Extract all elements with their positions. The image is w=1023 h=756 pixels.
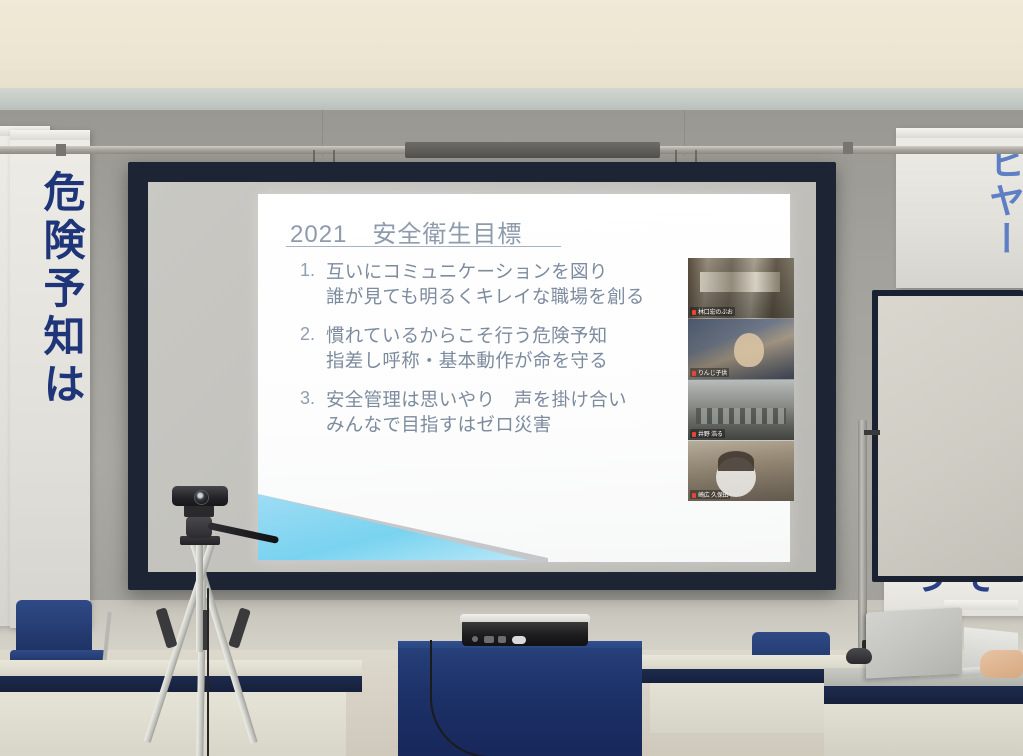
mic-muted-icon [692,310,696,315]
desk-edge [824,686,1023,704]
rail-end-cap [56,144,66,156]
whiteboard-surface [878,296,1023,576]
slide-list-item: 3. 安全管理は思いやり 声を掛け合い みんなで目指すはゼロ災害 [300,388,730,438]
video-tile[interactable]: 井野 浩る [688,380,794,441]
camera-tripod [130,478,270,756]
slide-item-line2: みんなで目指すはゼロ災害 [326,413,627,438]
chair-backrest [16,600,92,656]
banner-left-front: 危険予知は [10,130,90,628]
video-tile[interactable]: 崎広 久保田 [688,441,794,501]
mic-muted-icon [692,432,696,437]
ceiling [0,0,1023,88]
whiteboard-bracket [864,430,880,435]
video-tile[interactable]: りんじ子供 [688,319,794,380]
participant-name: 林口宏のぶお [690,307,735,316]
slide-list-item: 2. 慣れているからこそ行う危険予知 指差し呼称・基本動作が命を守る [300,324,730,374]
slide-title: 2021 安全衛生目標 [290,214,522,249]
banner-hem [896,128,1023,138]
slide-bullet-list: 1. 互いにコミュニケーションを図り 誰が見ても明るくキレイな職場を創る 2. … [300,260,730,452]
slide-item-line2: 指差し呼称・基本動作が命を守る [326,349,608,374]
slide-item-number: 2. [300,324,326,345]
slide-item-number: 1. [300,260,326,281]
slide-title-underline [286,246,561,247]
tripod-center-column [196,534,203,652]
user-hand [980,650,1023,678]
rail-end-cap [843,142,853,154]
laptop-lid [866,607,962,678]
participant-name: 崎広 久保田 [690,490,730,499]
slide-wedge-accent [258,490,528,562]
slide-list-item: 1. 互いにコミュニケーションを図り 誰が見ても明るくキレイな職場を創る [300,260,730,310]
mic-muted-icon [692,493,696,498]
tripod-leg-grip [155,607,177,648]
camera-cable [207,588,209,756]
webcam-mount-clip [184,505,214,517]
ceiling-trim [0,88,1023,110]
conference-room-scene: 安全確保の第一歩 危険予知は ヒヤー うそ レコーディング 2021 安全衛生目… [0,0,1023,756]
participant-name: 井野 浩る [690,429,725,438]
slide-item-line2: 誰が見ても明るくキレイな職場を創る [326,285,645,310]
mic-muted-icon [692,371,696,376]
video-call-grid: 林口宏のぶお りんじ子供 井野 浩る 崎広 久保田 [688,258,794,501]
slide-item-line1: 慣れているからこそ行う危険予知 [326,324,608,349]
participant-name: りんじ子供 [690,368,729,377]
desk-panel [824,704,1023,756]
slide-item-number: 3. [300,388,326,409]
computer-mouse [846,648,872,664]
camera-lens-icon [194,490,209,505]
video-tile[interactable]: 林口宏のぶお [688,258,794,319]
slide-item-line1: 安全管理は思いやり 声を掛け合い [326,388,627,413]
tripod-leg-grip [228,607,251,648]
banner-right-top-text: ヒヤー [972,144,1022,258]
projector-vga-port [512,636,526,644]
slide-item-line1: 互いにコミュニケーションを図り [326,260,645,285]
banner-left-front-text: 危険予知は [18,170,82,410]
banner-hem [10,130,90,140]
rail-housing [405,142,660,158]
